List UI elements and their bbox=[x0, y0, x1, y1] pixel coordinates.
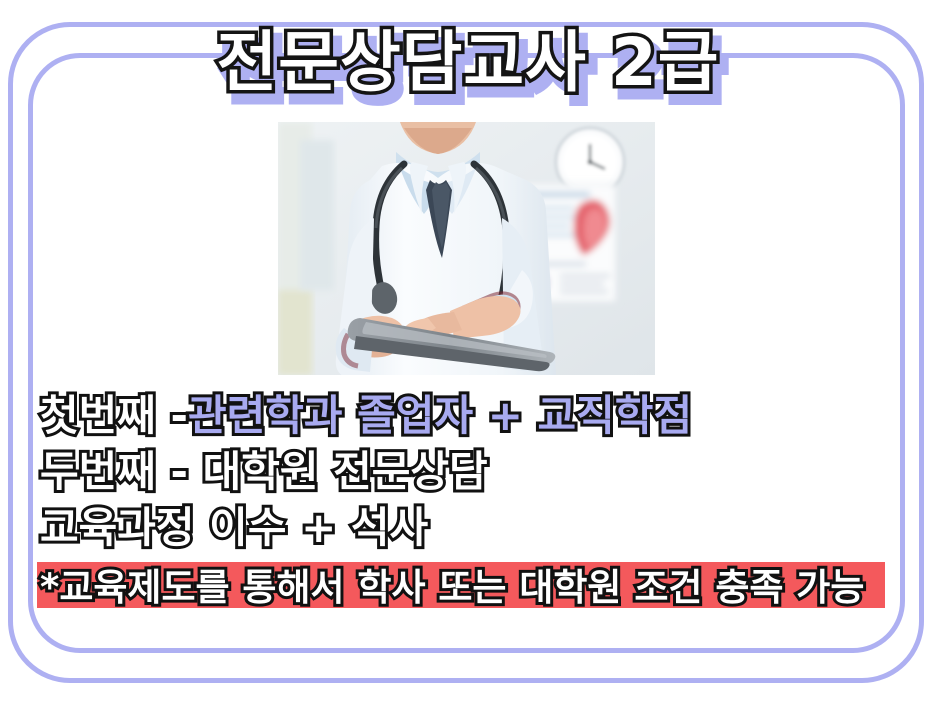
line-2-segment-1: 두번째 - 대학원 전문상담 bbox=[40, 444, 488, 500]
doctor-with-tablet-photo bbox=[278, 122, 655, 375]
title-face-layer: 전문상담교사 2급 bbox=[217, 24, 720, 101]
line-4-segment-1: *교육제도를 통해서 학사 또는 대학원 조건 충족 가능 bbox=[40, 562, 864, 614]
requirement-line-3: 교육과정 이수 + 석사 bbox=[40, 500, 900, 556]
poster-canvas: 전문상담교사 2급 전문상담교사 2급 bbox=[0, 0, 936, 702]
title-text-group: 전문상담교사 2급 전문상담교사 2급 bbox=[217, 28, 720, 97]
requirement-line-2: 두번째 - 대학원 전문상담 bbox=[40, 444, 900, 500]
page-title: 전문상담교사 2급 전문상담교사 2급 bbox=[0, 28, 936, 97]
line-1-segment-1: 첫번째 - bbox=[40, 388, 188, 444]
line-3-segment-1: 교육과정 이수 + 석사 bbox=[40, 500, 428, 556]
photo-illustration bbox=[278, 122, 655, 375]
line-1-segment-2: 관련학과 졸업자 + 교직학점 bbox=[188, 388, 692, 444]
requirement-note-line: *교육제도를 통해서 학사 또는 대학원 조건 충족 가능 bbox=[40, 560, 900, 612]
requirement-line-1: 첫번째 - 관련학과 졸업자 + 교직학점 bbox=[40, 388, 900, 444]
requirements-list: 첫번째 - 관련학과 졸업자 + 교직학점 두번째 - 대학원 전문상담 교육과… bbox=[40, 388, 900, 612]
